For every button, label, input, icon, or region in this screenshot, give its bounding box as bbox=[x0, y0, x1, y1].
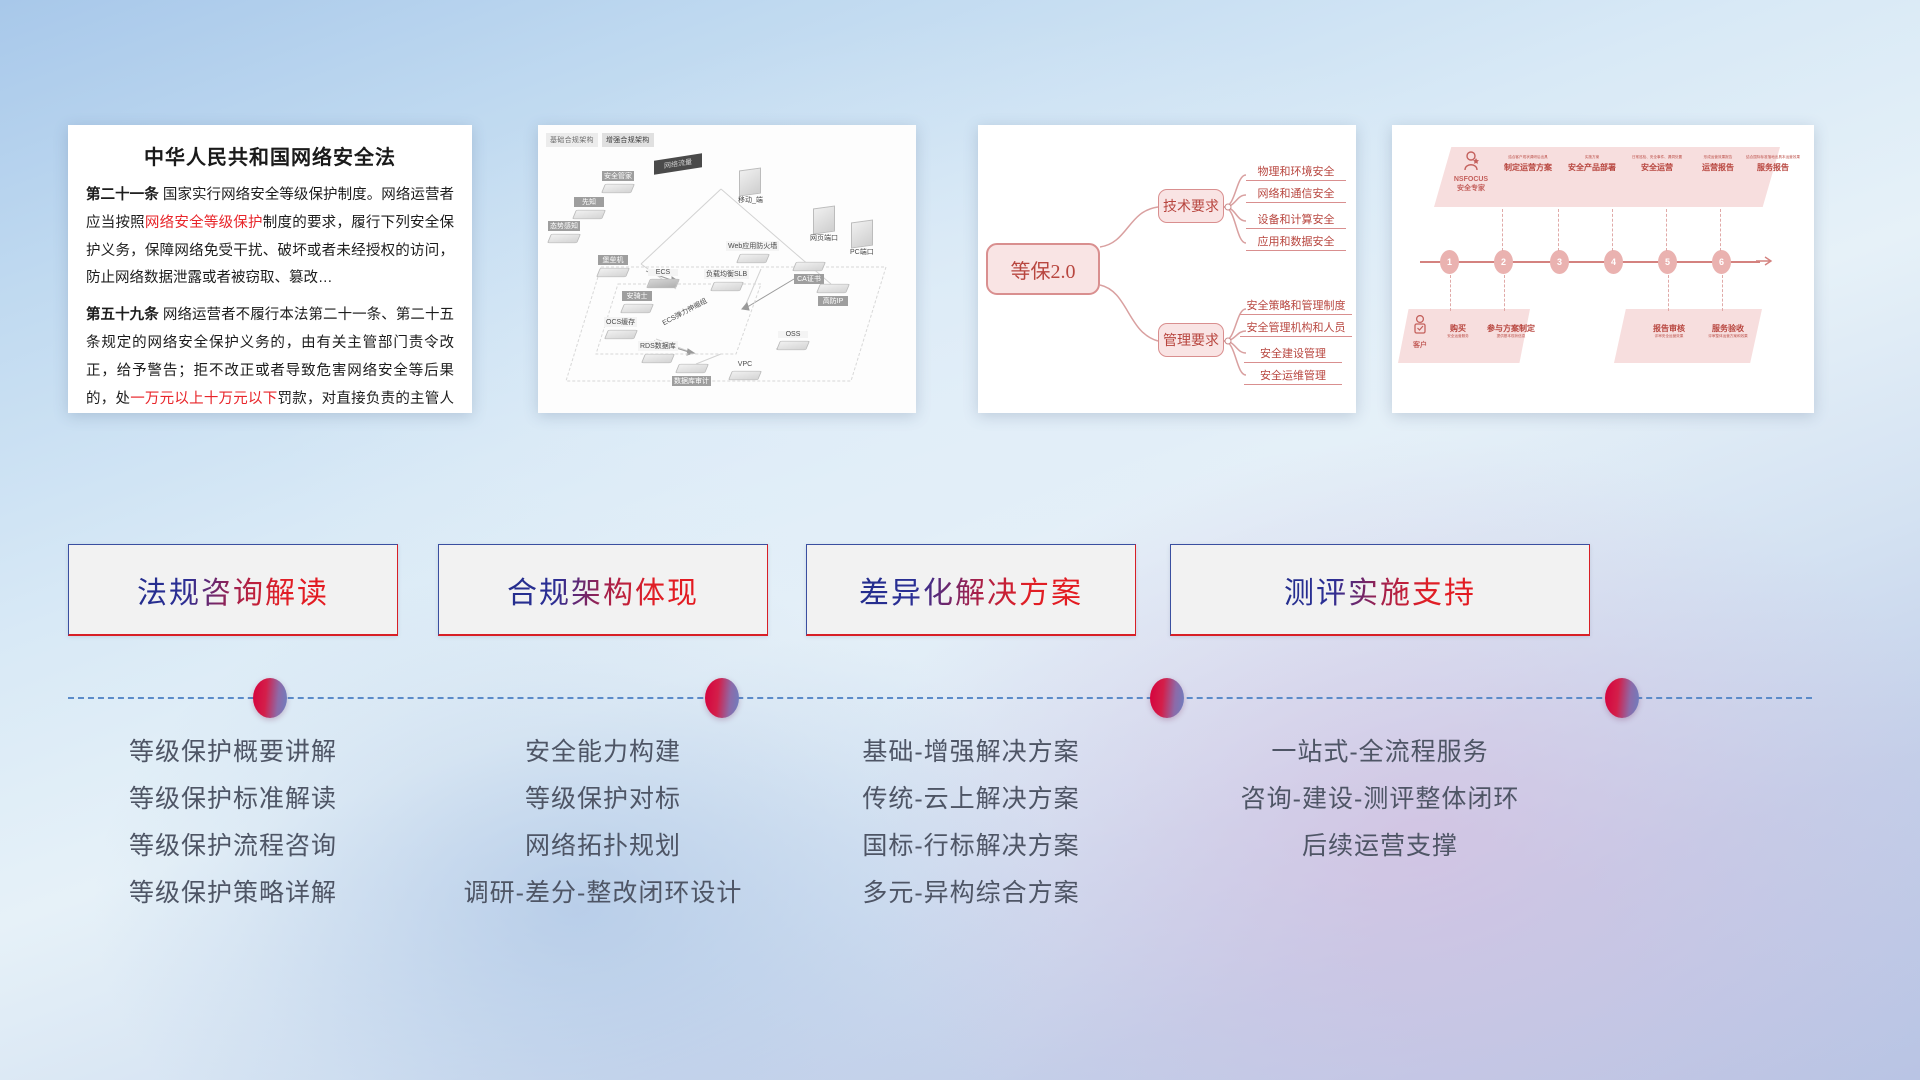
mindmap-branch-management[interactable]: 管理要求 bbox=[1158, 323, 1224, 357]
list-item: 等级保护概要讲解 bbox=[68, 740, 398, 765]
vendor-step: 实施方案 安全产品部署 bbox=[1562, 155, 1622, 173]
node-anqishi: 安骑士 bbox=[622, 291, 652, 316]
list-item: 基础-增强解决方案 bbox=[806, 740, 1136, 765]
node-xianzhi: 先知 bbox=[574, 197, 604, 222]
list-item: 网络拓扑规划 bbox=[438, 834, 768, 859]
architecture-diagram: 基础合规架构 增强合规架构 bbox=[538, 125, 916, 413]
roadmap-marker[interactable]: 3 bbox=[1550, 250, 1569, 274]
node-waf: Web应用防火墙 bbox=[726, 241, 779, 266]
architecture-tab-bar: 基础合规架构 增强合规架构 bbox=[546, 133, 908, 147]
node-slb: 负载均衡SLB bbox=[704, 269, 749, 294]
mindmap-leaf: 设备和计算安全 bbox=[1246, 211, 1346, 229]
section-title-box-4[interactable]: 测评实施支持 bbox=[1170, 544, 1590, 636]
vendor-name: NSFOCUS bbox=[1454, 176, 1488, 183]
node-ecs: ECS bbox=[648, 269, 678, 291]
mindmap-root[interactable]: 等保2.0 bbox=[986, 243, 1100, 295]
node-pc-client: PC端口 bbox=[848, 221, 876, 257]
law-body: 第二十一条 国家实行网络安全等级保护制度。网络运营者应当按照网络安全等级保护制度… bbox=[68, 182, 472, 413]
section-title-box-3[interactable]: 差异化解决方案 bbox=[806, 544, 1136, 636]
roadmap-leader-line bbox=[1450, 275, 1451, 311]
law-article-number: 第五十九条 bbox=[86, 307, 159, 323]
mindmap-branch-technical[interactable]: 技术要求 bbox=[1158, 189, 1224, 223]
list-item: 等级保护标准解读 bbox=[68, 787, 398, 812]
detail-column-3: 基础-增强解决方案 传统-云上解决方案 国标-行标解决方案 多元-异构综合方案 bbox=[806, 740, 1136, 928]
roadmap-marker[interactable]: 1 bbox=[1440, 250, 1459, 274]
slide-canvas: 中华人民共和国网络安全法 第二十一条 国家实行网络安全等级保护制度。网络运营者应… bbox=[0, 0, 1920, 1080]
expert-avatar-icon: NSFOCUS 安全专家 bbox=[1448, 151, 1494, 194]
customer-step: 报告审核 评审安全运营效果 bbox=[1640, 321, 1698, 339]
detail-column-4: 一站式-全流程服务 咨询-建设-测评整体闭环 后续运营支撑 bbox=[1170, 740, 1590, 881]
section-title-text: 合规架构体现 bbox=[507, 568, 699, 612]
roadmap-leader-line bbox=[1666, 209, 1667, 251]
timeline-dashed-line bbox=[68, 697, 1812, 699]
section-title-row: 法规咨询解读 合规架构体现 差异化解决方案 测评实施支持 bbox=[0, 544, 1920, 654]
list-item: 咨询-建设-测评整体闭环 bbox=[1170, 787, 1590, 812]
list-item: 一站式-全流程服务 bbox=[1170, 740, 1590, 765]
mindmap: 等保2.0 技术要求 物理和环境安全 网络和通信安全 设备和计算安全 应用和数据… bbox=[978, 125, 1356, 413]
node-anti-ddos-ip: 高防IP bbox=[818, 281, 848, 306]
node-oss: OSS bbox=[778, 331, 808, 353]
roadmap-leader-line bbox=[1558, 209, 1559, 251]
card-compliance-architecture[interactable]: 基础合规架构 增强合规架构 bbox=[538, 125, 916, 413]
roadmap-leader-line bbox=[1720, 209, 1721, 251]
roadmap-leader-line bbox=[1502, 209, 1503, 251]
customer-step: 参与方案制定 提供基本现状信息 bbox=[1480, 321, 1542, 339]
list-item: 调研-差分-整改闭环设计 bbox=[438, 881, 768, 906]
law-article-number: 第二十一条 bbox=[86, 187, 159, 203]
roadmap-marker[interactable]: 5 bbox=[1658, 250, 1677, 274]
section-title-box-1[interactable]: 法规咨询解读 bbox=[68, 544, 398, 636]
list-item: 国标-行标解决方案 bbox=[806, 834, 1136, 859]
section-title-text: 测评实施支持 bbox=[1284, 568, 1476, 612]
mindmap-leaf: 安全建设管理 bbox=[1244, 345, 1342, 363]
roadmap-marker[interactable]: 4 bbox=[1604, 250, 1623, 274]
card-dengbao-mindmap[interactable]: 等保2.0 技术要求 物理和环境安全 网络和通信安全 设备和计算安全 应用和数据… bbox=[978, 125, 1356, 413]
section-title-text: 法规咨询解读 bbox=[137, 568, 329, 612]
section-title-box-2[interactable]: 合规架构体现 bbox=[438, 544, 768, 636]
roadmap-leader-line bbox=[1612, 209, 1613, 251]
timeline-dot-3[interactable] bbox=[1150, 678, 1184, 718]
law-highlight: 一万元以上十万元以下 bbox=[130, 391, 277, 407]
tab-enhanced-architecture[interactable]: 增强合规架构 bbox=[602, 133, 654, 147]
timeline-dot-1[interactable] bbox=[253, 678, 287, 718]
vendor-step: 结合客户现状调研后出具 制定运营方案 bbox=[1496, 155, 1560, 173]
detail-column-row: 等级保护概要讲解 等级保护标准解读 等级保护流程咨询 等级保护策略详解 安全能力… bbox=[0, 740, 1920, 970]
roadmap-leader-line bbox=[1722, 275, 1723, 311]
illustration-card-row: 中华人民共和国网络安全法 第二十一条 国家实行网络安全等级保护制度。网络运营者应… bbox=[0, 125, 1920, 435]
timeline bbox=[0, 668, 1920, 728]
node-web-client: 网页端口 bbox=[808, 207, 840, 243]
detail-column-1: 等级保护概要讲解 等级保护标准解读 等级保护流程咨询 等级保护策略详解 bbox=[68, 740, 398, 928]
node-vpc: VPC bbox=[730, 361, 760, 383]
roadmap-leader-line bbox=[1668, 275, 1669, 311]
list-item: 等级保护对标 bbox=[438, 787, 768, 812]
node-bastion-host: 堡垒机 bbox=[598, 255, 628, 280]
vendor-step: 形成运营效果报告 运营报告 bbox=[1690, 155, 1746, 173]
mindmap-leaf: 网络和通信安全 bbox=[1246, 185, 1346, 203]
card-cybersecurity-law[interactable]: 中华人民共和国网络安全法 第二十一条 国家实行网络安全等级保护制度。网络运营者应… bbox=[68, 125, 472, 413]
roadmap-axis bbox=[1420, 261, 1760, 263]
list-item: 后续运营支撑 bbox=[1170, 834, 1590, 859]
node-situational-awareness: 态势感知 bbox=[548, 221, 580, 246]
mindmap-leaf: 安全策略和管理制度 bbox=[1240, 297, 1352, 315]
timeline-dot-2[interactable] bbox=[705, 678, 739, 718]
mindmap-leaf: 安全运维管理 bbox=[1244, 367, 1342, 385]
list-item: 传统-云上解决方案 bbox=[806, 787, 1136, 812]
node-ocs-cache: OCS缓存 bbox=[604, 317, 637, 342]
vendor-step: 结合国际标准落地出具本运营效果 服务报告 bbox=[1744, 155, 1802, 173]
timeline-dot-4[interactable] bbox=[1605, 678, 1639, 718]
law-article: 第二十一条 国家实行网络安全等级保护制度。网络运营者应当按照网络安全等级保护制度… bbox=[86, 182, 454, 293]
vendor-step: 日常巡检、安全事件、漏洞处置 安全运营 bbox=[1624, 155, 1690, 173]
list-item: 安全能力构建 bbox=[438, 740, 768, 765]
law-highlight: 网络安全等级保护 bbox=[145, 215, 263, 231]
customer-step: 服务验收 评审整体运营方案和效果 bbox=[1698, 321, 1758, 339]
detail-column-2: 安全能力构建 等级保护对标 网络拓扑规划 调研-差分-整改闭环设计 bbox=[438, 740, 768, 928]
roadmap-marker[interactable]: 2 bbox=[1494, 250, 1513, 274]
roadmap-leader-line bbox=[1504, 275, 1505, 311]
customer-avatar-icon: 客户 bbox=[1402, 315, 1438, 350]
roadmap-arrow-icon bbox=[1756, 253, 1778, 271]
card-evaluation-roadmap[interactable]: NSFOCUS 安全专家 结合客户现状调研后出具 制定运营方案 实施方案 安全产… bbox=[1392, 125, 1814, 413]
section-title-text: 差异化解决方案 bbox=[859, 568, 1083, 612]
roadmap-marker[interactable]: 6 bbox=[1712, 250, 1731, 274]
node-database-audit: 数据库审计 bbox=[672, 361, 711, 386]
roadmap-diagram: NSFOCUS 安全专家 结合客户现状调研后出具 制定运营方案 实施方案 安全产… bbox=[1392, 125, 1814, 413]
list-item: 等级保护流程咨询 bbox=[68, 834, 398, 859]
customer-role: 客户 bbox=[1402, 340, 1438, 350]
law-article: 第五十九条 网络运营者不履行本法第二十一条、第二十五条规定的网络安全保护义务的，… bbox=[86, 302, 454, 413]
list-item: 多元-异构综合方案 bbox=[806, 881, 1136, 906]
law-title: 中华人民共和国网络安全法 bbox=[68, 125, 472, 182]
node-mobile-client: 移动_端 bbox=[736, 169, 765, 205]
node-security-butler: 安全管家 bbox=[602, 171, 634, 196]
mindmap-leaf: 安全管理机构和人员 bbox=[1240, 319, 1352, 337]
list-item: 等级保护策略详解 bbox=[68, 881, 398, 906]
tab-basic-architecture[interactable]: 基础合规架构 bbox=[546, 133, 598, 147]
mindmap-leaf: 物理和环境安全 bbox=[1246, 163, 1346, 181]
vendor-role: 安全专家 bbox=[1457, 185, 1485, 192]
customer-step: 购买 安全运营服务 bbox=[1436, 321, 1480, 339]
architecture-canvas: 安全管家 先知 态势感知 网络流量 堡垒机 移动_端 bbox=[546, 149, 908, 395]
mindmap-leaf: 应用和数据安全 bbox=[1246, 233, 1346, 251]
